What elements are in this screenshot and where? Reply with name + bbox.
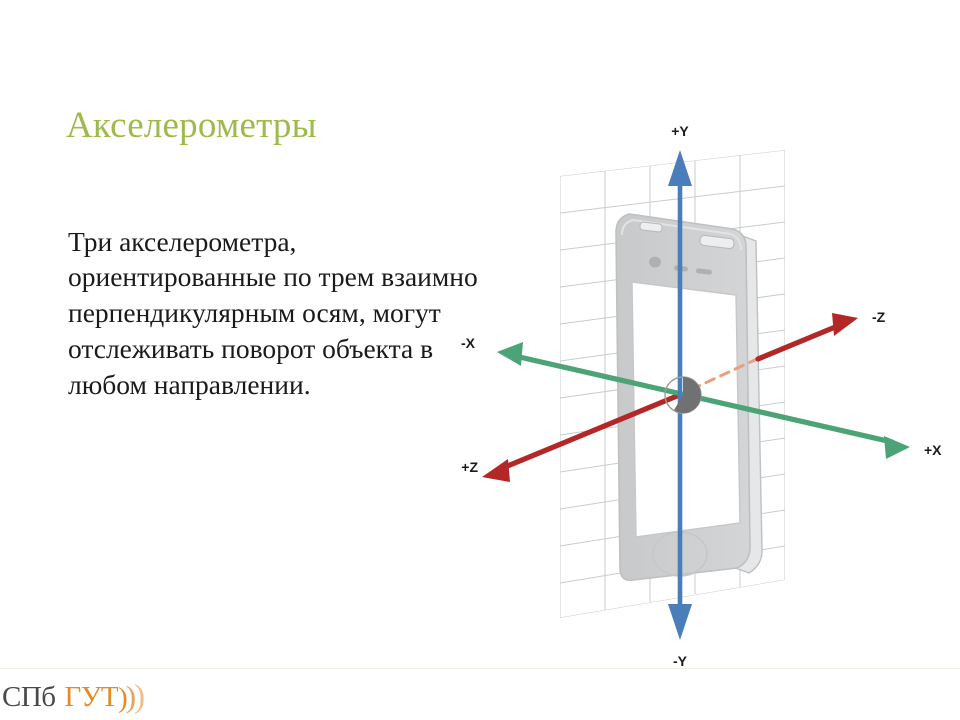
axis-label-x-negative: -X [461, 335, 476, 351]
3d-axis-smartphone-diagram: +Y -Y -X +X +Z -Z [440, 110, 960, 680]
axis-label-y-positive: +Y [671, 123, 689, 139]
logo-wave-icon: ))) [118, 681, 143, 714]
logo-wave-2: ) [126, 681, 134, 712]
logo-wave-3: ) [134, 681, 143, 714]
footer-logo: СПб ГУТ ))) [2, 679, 143, 715]
logo-text-gut: ГУТ [65, 683, 119, 712]
page-title: Акселерометры [66, 105, 317, 146]
axis-label-y-negative: -Y [673, 653, 688, 669]
slide-body-text: Три акселерометра, ориентированные по тр… [68, 224, 498, 403]
axis-label-z-positive: +Z [461, 459, 478, 475]
logo-text-spb: СПб [2, 683, 56, 712]
footer-divider [0, 668, 960, 669]
presentation-slide: Акселерометры Три акселерометра, ориенти… [0, 0, 960, 720]
logo-wave-1: ) [118, 684, 126, 713]
axis-label-z-negative: -Z [872, 309, 886, 325]
axis-label-x-positive: +X [924, 442, 942, 458]
